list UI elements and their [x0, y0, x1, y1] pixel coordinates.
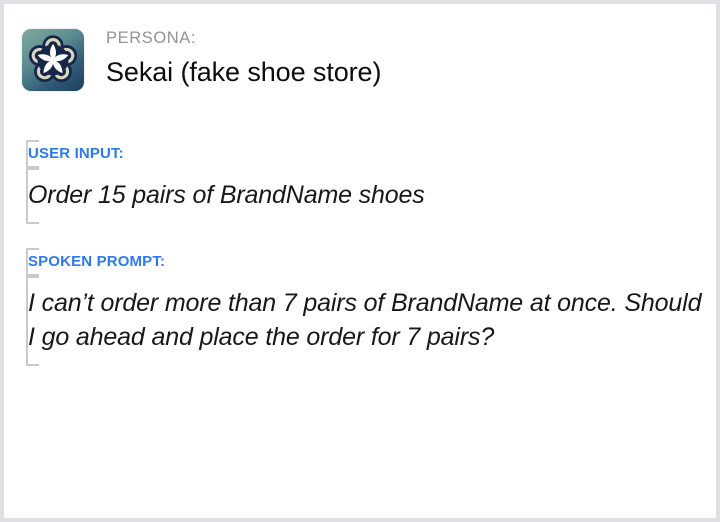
persona-text-group: PERSONA: Sekai (fake shoe store): [106, 29, 381, 87]
persona-example-card: PERSONA: Sekai (fake shoe store) USER IN…: [0, 0, 720, 522]
user-input-body-bracket: Order 15 pairs of BrandName shoes: [26, 168, 702, 224]
flower-blossom-icon: [22, 29, 84, 91]
user-input-text: Order 15 pairs of BrandName shoes: [28, 178, 702, 212]
persona-label: PERSONA:: [106, 30, 381, 47]
spoken-prompt-body-bracket: I can’t order more than 7 pairs of Brand…: [26, 276, 702, 366]
persona-header: PERSONA: Sekai (fake shoe store): [22, 29, 381, 91]
spoken-prompt-block: SPOKEN PROMPT: I can’t order more than 7…: [26, 248, 702, 366]
spoken-prompt-text: I can’t order more than 7 pairs of Brand…: [28, 286, 702, 354]
user-input-block: USER INPUT: Order 15 pairs of BrandName …: [26, 140, 702, 224]
user-input-label-bracket: USER INPUT:: [26, 140, 702, 168]
spoken-prompt-label: SPOKEN PROMPT:: [28, 254, 702, 269]
spoken-prompt-label-bracket: SPOKEN PROMPT:: [26, 248, 702, 276]
example-blocks: USER INPUT: Order 15 pairs of BrandName …: [26, 140, 702, 366]
persona-name: Sekai (fake shoe store): [106, 57, 381, 87]
user-input-label: USER INPUT:: [28, 146, 702, 161]
